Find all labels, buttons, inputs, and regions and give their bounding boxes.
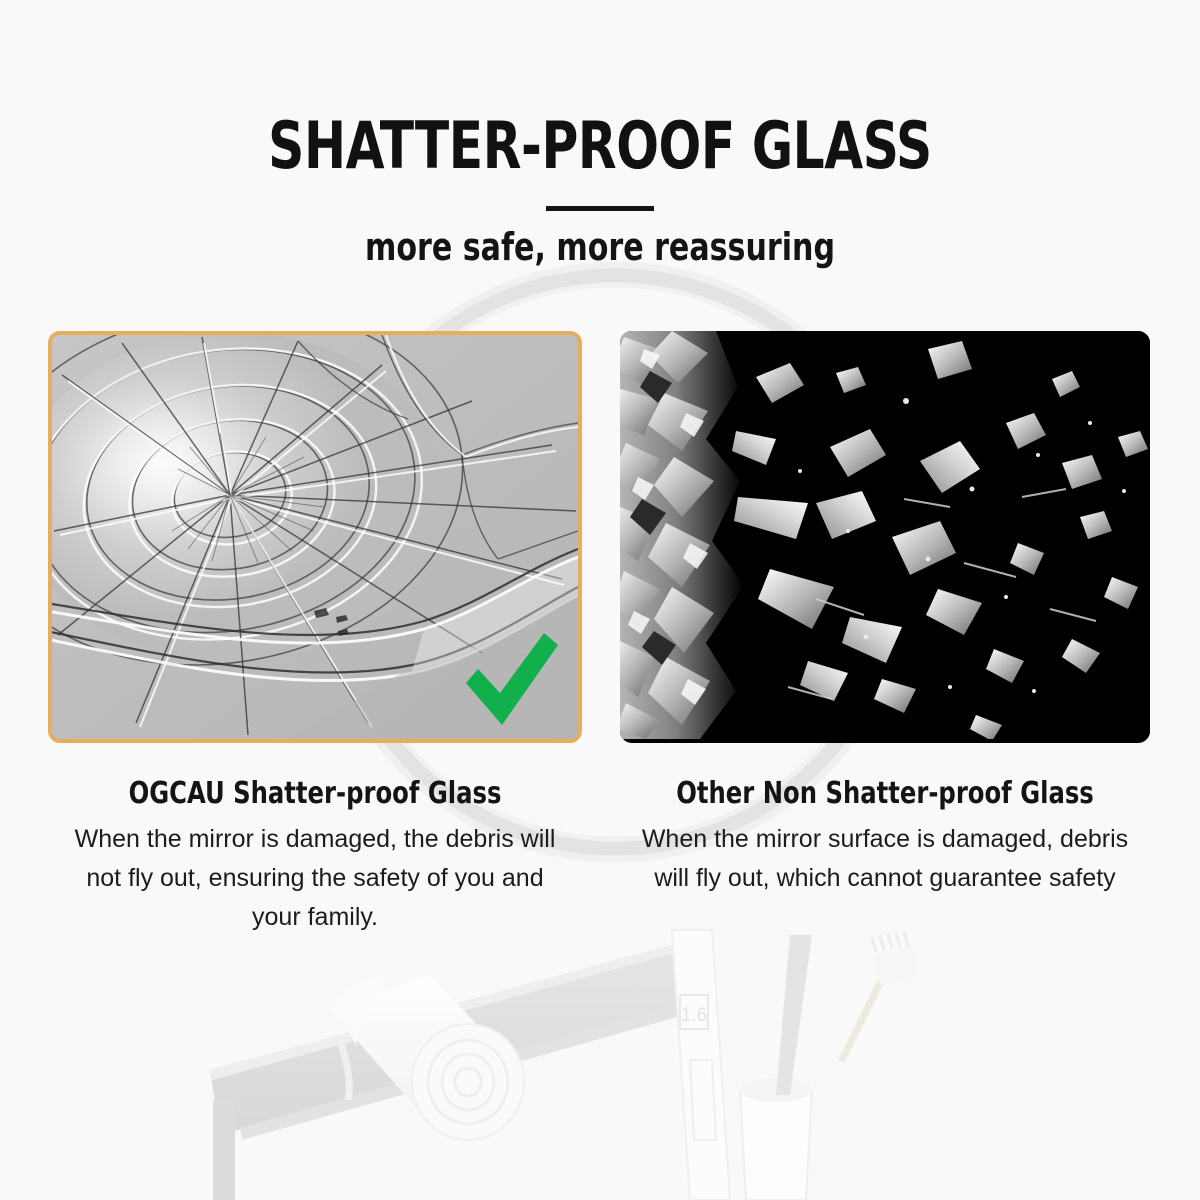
shattered-glass-illustration [620, 331, 1150, 739]
marketing-infographic: 1.6 SHATTER-PROOF GLASS more safe, more [0, 0, 1200, 1200]
rolled-towel [330, 975, 524, 1140]
page-subtitle: more safe, more reassuring [72, 211, 1128, 269]
header: SHATTER-PROOF GLASS more safe, more reas… [0, 0, 1200, 269]
shatter-proof-glass-photo [48, 331, 582, 743]
left-caption-title: OGCAU Shatter-proof Glass [75, 743, 556, 811]
non-shatter-proof-glass-photo [620, 331, 1150, 743]
page-title: SHATTER-PROOF GLASS [84, 0, 1116, 181]
green-check-icon [458, 633, 562, 729]
toothbrush-cup [740, 1078, 812, 1200]
right-caption-title: Other Non Shatter-proof Glass [647, 743, 1124, 811]
toothpaste-tube: 1.6 [672, 930, 730, 1200]
svg-text:1.6: 1.6 [681, 1005, 707, 1026]
right-caption-body: When the mirror surface is damaged, debr… [635, 811, 1135, 898]
comparison-column-other: Other Non Shatter-proof Glass When the m… [620, 331, 1150, 898]
wall-shelf [210, 940, 712, 1200]
left-caption-body: When the mirror is damaged, the debris w… [65, 811, 565, 937]
toothbrush [776, 932, 918, 1095]
comparison-column-ogcau: OGCAU Shatter-proof Glass When the mirro… [48, 331, 582, 937]
